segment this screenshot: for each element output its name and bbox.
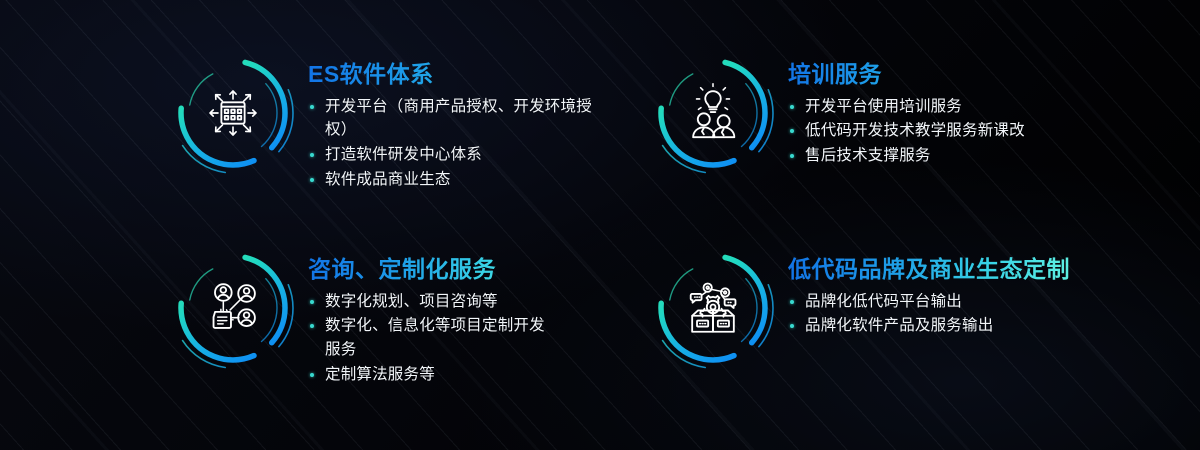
list-item: 数字化、信息化等项目定制开发服务 <box>308 314 557 361</box>
card-body: ES软件体系 开发平台（商用产品授权、开发环境授权） 打造软件研发中心体系 软件… <box>298 62 593 193</box>
slide-canvas: ES软件体系 开发平台（商用产品授权、开发环境授权） 打造软件研发中心体系 软件… <box>0 0 1200 450</box>
icon-open-box-gear-network <box>648 243 778 373</box>
card-low-code-brand-ecosystem[interactable]: 低代码品牌及商业生态定制 品牌化低代码平台输出 品牌化软件产品及服务输出 <box>648 243 1070 373</box>
module-grid-expand-icon <box>202 82 264 144</box>
list-item: 定制算法服务等 <box>308 363 557 387</box>
card-bullet-list: 数字化规划、项目咨询等 数字化、信息化等项目定制开发服务 定制算法服务等 <box>308 290 557 387</box>
list-item: 开发平台使用培训服务 <box>788 95 1025 119</box>
icon-lightbulb-people <box>648 48 778 178</box>
list-item: 售后技术支撑服务 <box>788 144 1025 168</box>
list-item: 品牌化软件产品及服务输出 <box>788 314 1070 338</box>
card-consulting-customization-service[interactable]: 咨询、定制化服务 数字化规划、项目咨询等 数字化、信息化等项目定制开发服务 定制… <box>168 243 557 388</box>
list-item: 软件成品商业生态 <box>308 168 593 192</box>
card-bullet-list: 开发平台（商用产品授权、开发环境授权） 打造软件研发中心体系 软件成品商业生态 <box>308 95 593 192</box>
card-title: 低代码品牌及商业生态定制 <box>788 257 1070 283</box>
card-title: ES软件体系 <box>308 62 593 88</box>
list-item: 开发平台（商用产品授权、开发环境授权） <box>308 95 593 142</box>
card-title: 培训服务 <box>788 62 1025 88</box>
list-item: 数字化规划、项目咨询等 <box>308 290 557 314</box>
open-box-gear-network-icon <box>682 277 744 339</box>
card-bullet-list: 品牌化低代码平台输出 品牌化软件产品及服务输出 <box>788 290 1070 338</box>
lightbulb-people-icon <box>682 82 744 144</box>
list-item: 打造软件研发中心体系 <box>308 143 593 167</box>
card-title: 咨询、定制化服务 <box>308 257 557 283</box>
icon-module-grid-expand <box>168 48 298 178</box>
card-bullet-list: 开发平台使用培训服务 低代码开发技术教学服务新课改 售后技术支撑服务 <box>788 95 1025 168</box>
list-item: 低代码开发技术教学服务新课改 <box>788 119 1025 143</box>
card-body: 低代码品牌及商业生态定制 品牌化低代码平台输出 品牌化软件产品及服务输出 <box>778 257 1070 339</box>
document-people-network-icon <box>202 277 264 339</box>
icon-document-people-network <box>168 243 298 373</box>
list-item: 品牌化低代码平台输出 <box>788 290 1070 314</box>
card-es-software-system[interactable]: ES软件体系 开发平台（商用产品授权、开发环境授权） 打造软件研发中心体系 软件… <box>168 48 593 193</box>
card-body: 培训服务 开发平台使用培训服务 低代码开发技术教学服务新课改 售后技术支撑服务 <box>778 62 1025 169</box>
card-body: 咨询、定制化服务 数字化规划、项目咨询等 数字化、信息化等项目定制开发服务 定制… <box>298 257 557 388</box>
card-training-service[interactable]: 培训服务 开发平台使用培训服务 低代码开发技术教学服务新课改 售后技术支撑服务 <box>648 48 1025 178</box>
